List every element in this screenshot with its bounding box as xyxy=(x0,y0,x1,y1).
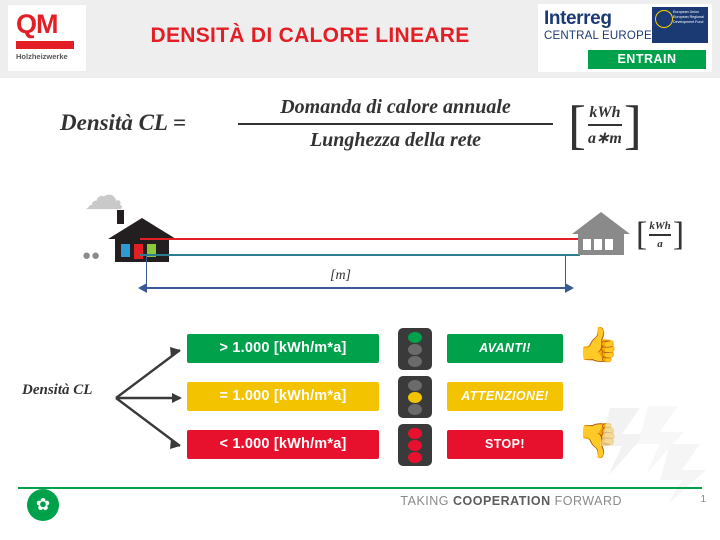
lamp-bottom xyxy=(408,404,422,415)
wood-logs-icon: ●● xyxy=(82,248,108,264)
roof-shape xyxy=(572,212,630,234)
interreg-name: Interreg xyxy=(544,8,612,30)
formula-unit: [ kWh a∗m ] xyxy=(568,98,642,154)
lamp-top xyxy=(408,380,422,391)
roof-shape xyxy=(108,218,176,239)
unit-fraction-bar xyxy=(588,124,622,126)
formula-denominator: Lunghezza della rete xyxy=(238,128,553,152)
formula-numerator: Domanda di calore annuale xyxy=(238,96,553,121)
lamp-bottom xyxy=(408,356,422,367)
interreg-subtitle: CENTRAL EUROPE xyxy=(544,30,652,42)
eu-flag-icon: European Union European Regional Develop… xyxy=(652,7,708,43)
entrain-badge: ENTRAIN xyxy=(588,50,706,69)
bracket-open-icon: [ xyxy=(636,221,647,248)
formula-unit-denominator: a∗m xyxy=(588,127,622,148)
footer-tagline: TAKING COOPERATION FORWARD xyxy=(400,494,622,508)
action-band-attenzione: ATTENZIONE! xyxy=(447,382,563,411)
eu-stars-icon xyxy=(655,10,673,28)
lamp-middle xyxy=(408,344,422,355)
network-diagram: ☁ ●● [ kWh a ] xyxy=(0,170,720,305)
qm-logo: QM Holzheizwerke xyxy=(8,5,86,71)
threshold-band-red: < 1.000 [kWh/m*a] xyxy=(187,430,379,459)
leaf-icon: ✿ xyxy=(27,489,59,521)
pipe-blue-line xyxy=(140,254,580,256)
eu-fund-text: European Union European Regional Develop… xyxy=(673,10,706,26)
demand-unit: [ kWh a ] xyxy=(636,220,684,250)
thumbs-up-icon: 👍 xyxy=(577,328,619,362)
window-shape xyxy=(583,239,591,250)
formula-unit-numerator: kWh xyxy=(588,104,622,123)
slide-header: QM Holzheizwerke DENSITÀ DI CALORE LINEA… xyxy=(0,0,720,78)
demand-unit-numerator: kWh xyxy=(649,220,670,233)
unit-fraction-bar xyxy=(649,234,670,236)
action-band-avanti: AVANTI! xyxy=(447,334,563,363)
slide: QM Holzheizwerke DENSITÀ DI CALORE LINEA… xyxy=(0,0,720,540)
traffic-light-green-icon xyxy=(398,328,432,370)
window-shape xyxy=(605,239,613,250)
lamp-bottom xyxy=(408,452,422,463)
formula-lhs: Densità CL = xyxy=(60,110,186,136)
demand-unit-denominator: a xyxy=(649,237,670,250)
window-shape xyxy=(594,239,602,250)
footer-badge: ✿ xyxy=(27,489,59,521)
lamp-top xyxy=(408,428,422,439)
smoke-icon: ☁ xyxy=(84,176,136,220)
tagline-bold: COOPERATION xyxy=(453,494,551,508)
interreg-logo: Interreg CENTRAL EUROPE European Union E… xyxy=(538,4,712,72)
bracket-open-icon: [ xyxy=(568,104,586,147)
house-gray-icon xyxy=(572,212,630,260)
footer-divider xyxy=(18,487,702,489)
traffic-light-red-icon xyxy=(398,424,432,466)
action-band-stop: STOP! xyxy=(447,430,563,459)
traffic-light-yellow-icon xyxy=(398,376,432,418)
threshold-band-green: > 1.000 [kWh/m*a] xyxy=(187,334,379,363)
qm-logo-text: QM xyxy=(16,9,58,40)
formula-fraction: Domanda di calore annuale Lunghezza dell… xyxy=(238,96,553,152)
formula-block: Densità CL = Domanda di calore annuale L… xyxy=(60,96,660,158)
window-blue-shape xyxy=(121,244,130,257)
fraction-bar xyxy=(238,123,553,125)
qm-logo-subtitle: Holzheizwerke xyxy=(16,52,68,61)
bracket-close-icon: ] xyxy=(624,104,642,147)
lamp-top xyxy=(408,332,422,343)
bracket-close-icon: ] xyxy=(673,221,684,248)
door-red-shape xyxy=(134,244,143,259)
decorative-chevrons xyxy=(600,404,710,504)
tree-label: Densità CL xyxy=(22,382,92,399)
page-title: DENSITÀ DI CALORE LINEARE xyxy=(95,24,525,48)
lamp-middle xyxy=(408,392,422,403)
length-label: [m] xyxy=(330,268,351,284)
qm-logo-bar xyxy=(16,41,74,49)
tagline-post: FORWARD xyxy=(551,494,622,508)
tagline-pre: TAKING xyxy=(400,494,453,508)
lamp-middle xyxy=(408,440,422,451)
threshold-band-yellow: = 1.000 [kWh/m*a] xyxy=(187,382,379,411)
pipe-red-line xyxy=(140,238,580,240)
length-dimension-arrow xyxy=(146,287,566,289)
page-number: 1 xyxy=(700,494,706,505)
